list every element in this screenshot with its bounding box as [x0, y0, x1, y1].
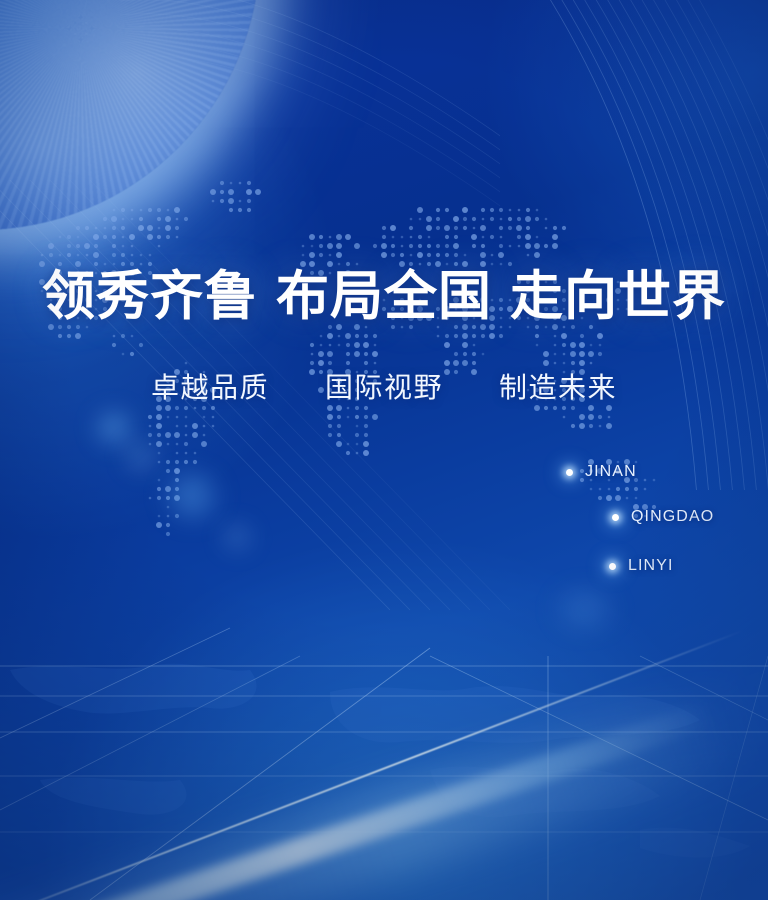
- location-pin-icon: [566, 469, 573, 476]
- headline-part-3: 走向世界: [510, 268, 726, 326]
- location-pin-icon: [609, 563, 616, 570]
- map-marker-linyi[interactable]: LINYI: [609, 557, 674, 575]
- glow-blob: [155, 468, 229, 524]
- subtitle-part-3: 制造未来: [499, 373, 617, 404]
- map-marker-label: QINGDAO: [631, 508, 714, 526]
- location-pin-icon: [612, 514, 619, 521]
- glow-blob: [215, 520, 259, 554]
- subtitle-part-1: 卓越品质: [151, 373, 269, 404]
- map-marker-jinan[interactable]: JINAN: [566, 463, 637, 481]
- map-marker-label: JINAN: [585, 463, 637, 481]
- banner-hero: 领秀齐鲁布局全国走向世界 卓越品质国际视野制造未来 JINAN QINGDAO …: [0, 0, 768, 900]
- subtitle-part-2: 国际视野: [325, 373, 443, 404]
- glow-blob: [118, 440, 164, 474]
- headline-part-2: 布局全国: [276, 268, 492, 326]
- headline-part-1: 领秀齐鲁: [42, 268, 258, 326]
- page-title: 领秀齐鲁布局全国走向世界: [0, 268, 768, 326]
- map-marker-qingdao[interactable]: QINGDAO: [612, 508, 714, 526]
- map-marker-label: LINYI: [628, 557, 674, 575]
- page-subtitle: 卓越品质国际视野制造未来: [0, 371, 768, 407]
